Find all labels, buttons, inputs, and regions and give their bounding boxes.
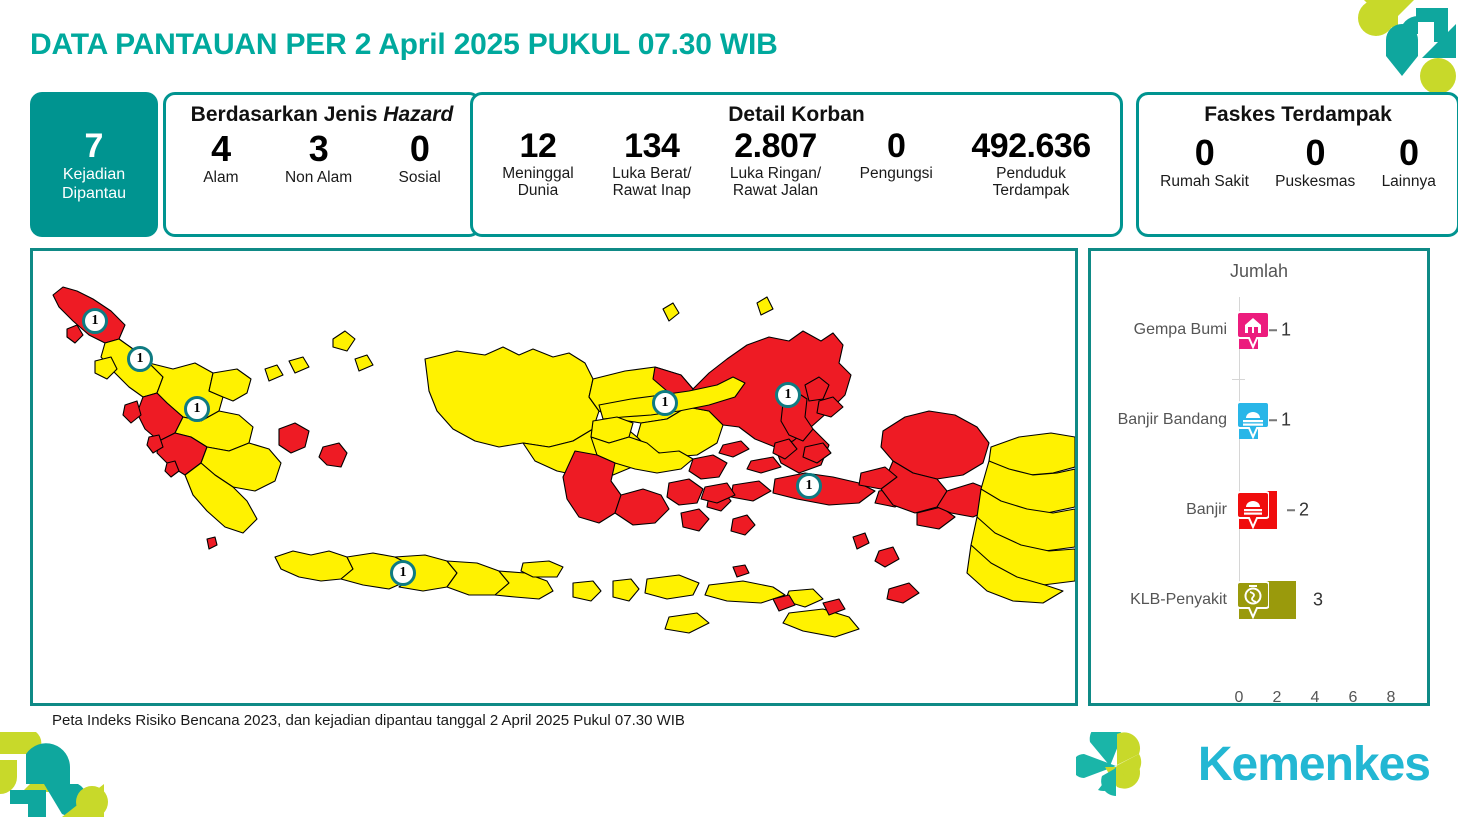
korban-meninggal-label-1: Meninggal <box>502 165 574 182</box>
map-marker-maluku[interactable]: 1 <box>796 473 822 499</box>
chart-value-banjir-bandang: 1 <box>1281 410 1291 431</box>
flood-pin-icon <box>1237 490 1269 530</box>
map-marker-sumut[interactable]: 1 <box>127 346 153 372</box>
card-detail-korban: Detail Korban 12 Meninggal Dunia 134 Luk… <box>470 92 1123 237</box>
faskes-lainnya-value: 0 <box>1382 133 1436 173</box>
korban-meninggal-value: 12 <box>502 127 574 165</box>
kejadian-label-2: Dipantau <box>62 184 126 203</box>
hazard-title-main: Berdasarkan Jenis <box>191 103 384 126</box>
chart-dash-gempa-bumi <box>1269 329 1277 331</box>
decoration-top-right <box>1338 0 1458 100</box>
card-faskes-terdampak: Faskes Terdampak 0 Rumah Sakit 0 Puskesm… <box>1136 92 1458 237</box>
chart-tick-minor-1 <box>1232 379 1245 380</box>
chart-xtick-8: 8 <box>1387 689 1396 707</box>
faskes-stat-row: 0 Rumah Sakit 0 Puskesmas 0 Lainnya <box>1139 133 1457 191</box>
kejadian-label-1: Kejadian <box>63 165 125 184</box>
dashboard-page: DATA PANTAUAN PER 2 April 2025 PUKUL 07.… <box>0 0 1458 817</box>
hazard-alam-label: Alam <box>203 169 238 186</box>
korban-luka-berat-value: 134 <box>612 127 691 165</box>
korban-stat-meninggal: 12 Meninggal Dunia <box>502 127 574 200</box>
korban-stat-luka-berat: 134 Luka Berat/ Rawat Inap <box>612 127 691 200</box>
chart-value-gempa-bumi: 1 <box>1281 320 1291 341</box>
hazard-stat-sosial: 0 Sosial <box>399 129 441 187</box>
map-marker-sumut-count: 1 <box>127 346 153 372</box>
korban-luka-ringan-label-1: Luka Ringan/ <box>730 165 821 182</box>
chart-xtick-4: 4 <box>1311 689 1320 707</box>
kejadian-count: 7 <box>85 129 104 165</box>
hazard-sosial-value: 0 <box>399 129 441 169</box>
earthquake-pin-icon <box>1237 310 1269 350</box>
korban-luka-berat-label-1: Luka Berat/ <box>612 165 691 182</box>
chart-dash-banjir <box>1287 509 1295 511</box>
map-marker-aceh-count: 1 <box>82 308 108 334</box>
chart-row-klb-penyakit[interactable]: KLB-Penyakit 3 <box>1091 577 1427 623</box>
chart-row-banjir[interactable]: Banjir 2 <box>1091 487 1427 533</box>
korban-luka-ringan-value: 2.807 <box>730 127 821 165</box>
card-kejadian-dipantau: 7 Kejadian Dipantau <box>30 92 158 237</box>
faskes-rumah-sakit-label: Rumah Sakit <box>1160 173 1249 190</box>
chart-xtick-0: 0 <box>1235 689 1244 707</box>
korban-penduduk-label-2: Terdampak <box>971 182 1090 199</box>
hazard-stat-non-alam: 3 Non Alam <box>285 129 352 187</box>
chart-label-gempa-bumi: Gempa Bumi <box>1134 321 1227 339</box>
korban-pengungsi-value: 0 <box>860 127 933 165</box>
hazard-count-chart-panel: Jumlah Gempa Bumi 1 Banjir Bandang <box>1088 248 1430 706</box>
map-marker-maluku-count: 1 <box>796 473 822 499</box>
hazard-alam-value: 4 <box>203 129 238 169</box>
chart-row-gempa-bumi[interactable]: Gempa Bumi 1 <box>1091 307 1427 353</box>
chart-dash-banjir-bandang <box>1269 419 1277 421</box>
korban-luka-ringan-label-2: Rawat Jalan <box>730 182 821 199</box>
korban-stat-luka-ringan: 2.807 Luka Ringan/ Rawat Jalan <box>730 127 821 200</box>
faskes-stat-rumah-sakit: 0 Rumah Sakit <box>1160 133 1249 191</box>
decoration-bottom-left <box>0 732 165 817</box>
faskes-stat-puskesmas: 0 Puskesmas <box>1275 133 1355 191</box>
summary-cards: 7 Kejadian Dipantau Berdasarkan Jenis Ha… <box>30 92 1430 237</box>
hazard-stat-alam: 4 Alam <box>203 129 238 187</box>
korban-penduduk-label-1: Penduduk <box>971 165 1090 182</box>
hazard-non-alam-label: Non Alam <box>285 169 352 186</box>
chart-title: Jumlah <box>1091 261 1427 282</box>
hazard-stat-row: 4 Alam 3 Non Alam 0 Sosial <box>166 129 478 187</box>
korban-meninggal-label-2: Dunia <box>502 182 574 199</box>
map-marker-riau[interactable]: 1 <box>184 396 210 422</box>
chart-label-klb-penyakit: KLB-Penyakit <box>1130 591 1227 609</box>
faskes-puskesmas-value: 0 <box>1275 133 1355 173</box>
hazard-non-alam-value: 3 <box>285 129 352 169</box>
chart-xtick-6: 6 <box>1349 689 1358 707</box>
map-marker-jawa-count: 1 <box>390 560 416 586</box>
faskes-lainnya-label: Lainnya <box>1382 173 1436 190</box>
chart-value-banjir: 2 <box>1299 500 1309 521</box>
korban-stat-pengungsi: 0 Pengungsi <box>860 127 933 182</box>
korban-luka-berat-label-2: Rawat Inap <box>612 182 691 199</box>
korban-stat-penduduk: 492.636 Penduduk Terdampak <box>971 127 1090 200</box>
korban-penduduk-value: 492.636 <box>971 127 1090 165</box>
korban-stat-row: 12 Meninggal Dunia 134 Luka Berat/ Rawat… <box>473 127 1120 200</box>
chart-label-banjir: Banjir <box>1186 501 1227 519</box>
korban-pengungsi-label-1: Pengungsi <box>860 165 933 182</box>
hazard-title-italic: Hazard <box>383 103 453 126</box>
faskes-stat-lainnya: 0 Lainnya <box>1382 133 1436 191</box>
chart-row-banjir-bandang[interactable]: Banjir Bandang 1 <box>1091 397 1427 443</box>
chart-value-klb-penyakit: 3 <box>1313 590 1323 611</box>
page-title: DATA PANTAUAN PER 2 April 2025 PUKUL 07.… <box>30 28 778 62</box>
kemenkes-mark-icon <box>1076 732 1186 798</box>
korban-card-title: Detail Korban <box>473 103 1120 127</box>
map-marker-maluku-utara-count: 1 <box>775 382 801 408</box>
map-marker-jawa[interactable]: 1 <box>390 560 416 586</box>
map-marker-aceh[interactable]: 1 <box>82 308 108 334</box>
faskes-rumah-sakit-value: 0 <box>1160 133 1249 173</box>
hazard-sosial-label: Sosial <box>399 169 441 186</box>
faskes-puskesmas-label: Puskesmas <box>1275 173 1355 190</box>
chart-x-axis: 0 2 4 6 8 <box>1091 689 1427 719</box>
flashflood-pin-icon <box>1237 400 1269 440</box>
indonesia-risk-map-panel[interactable]: 1 1 1 1 1 1 1 <box>30 248 1078 706</box>
kemenkes-wordmark: Kemenkes <box>1198 741 1430 789</box>
indonesia-map <box>33 251 1075 703</box>
disease-pin-icon <box>1237 580 1269 620</box>
kemenkes-logo: Kemenkes <box>1076 731 1430 799</box>
hazard-card-title: Berdasarkan Jenis Hazard <box>166 103 478 127</box>
faskes-card-title: Faskes Terdampak <box>1139 103 1457 127</box>
chart-plot-area: Gempa Bumi 1 Banjir Bandang <box>1091 289 1427 669</box>
card-jenis-hazard: Berdasarkan Jenis Hazard 4 Alam 3 Non Al… <box>163 92 481 237</box>
map-marker-riau-count: 1 <box>184 396 210 422</box>
map-source-note: Peta Indeks Risiko Bencana 2023, dan kej… <box>52 712 685 729</box>
map-marker-gorontalo-count: 1 <box>652 390 678 416</box>
map-marker-maluku-utara[interactable]: 1 <box>775 382 801 408</box>
chart-label-banjir-bandang: Banjir Bandang <box>1118 411 1227 429</box>
chart-xtick-2: 2 <box>1273 689 1282 707</box>
map-marker-gorontalo[interactable]: 1 <box>652 390 678 416</box>
